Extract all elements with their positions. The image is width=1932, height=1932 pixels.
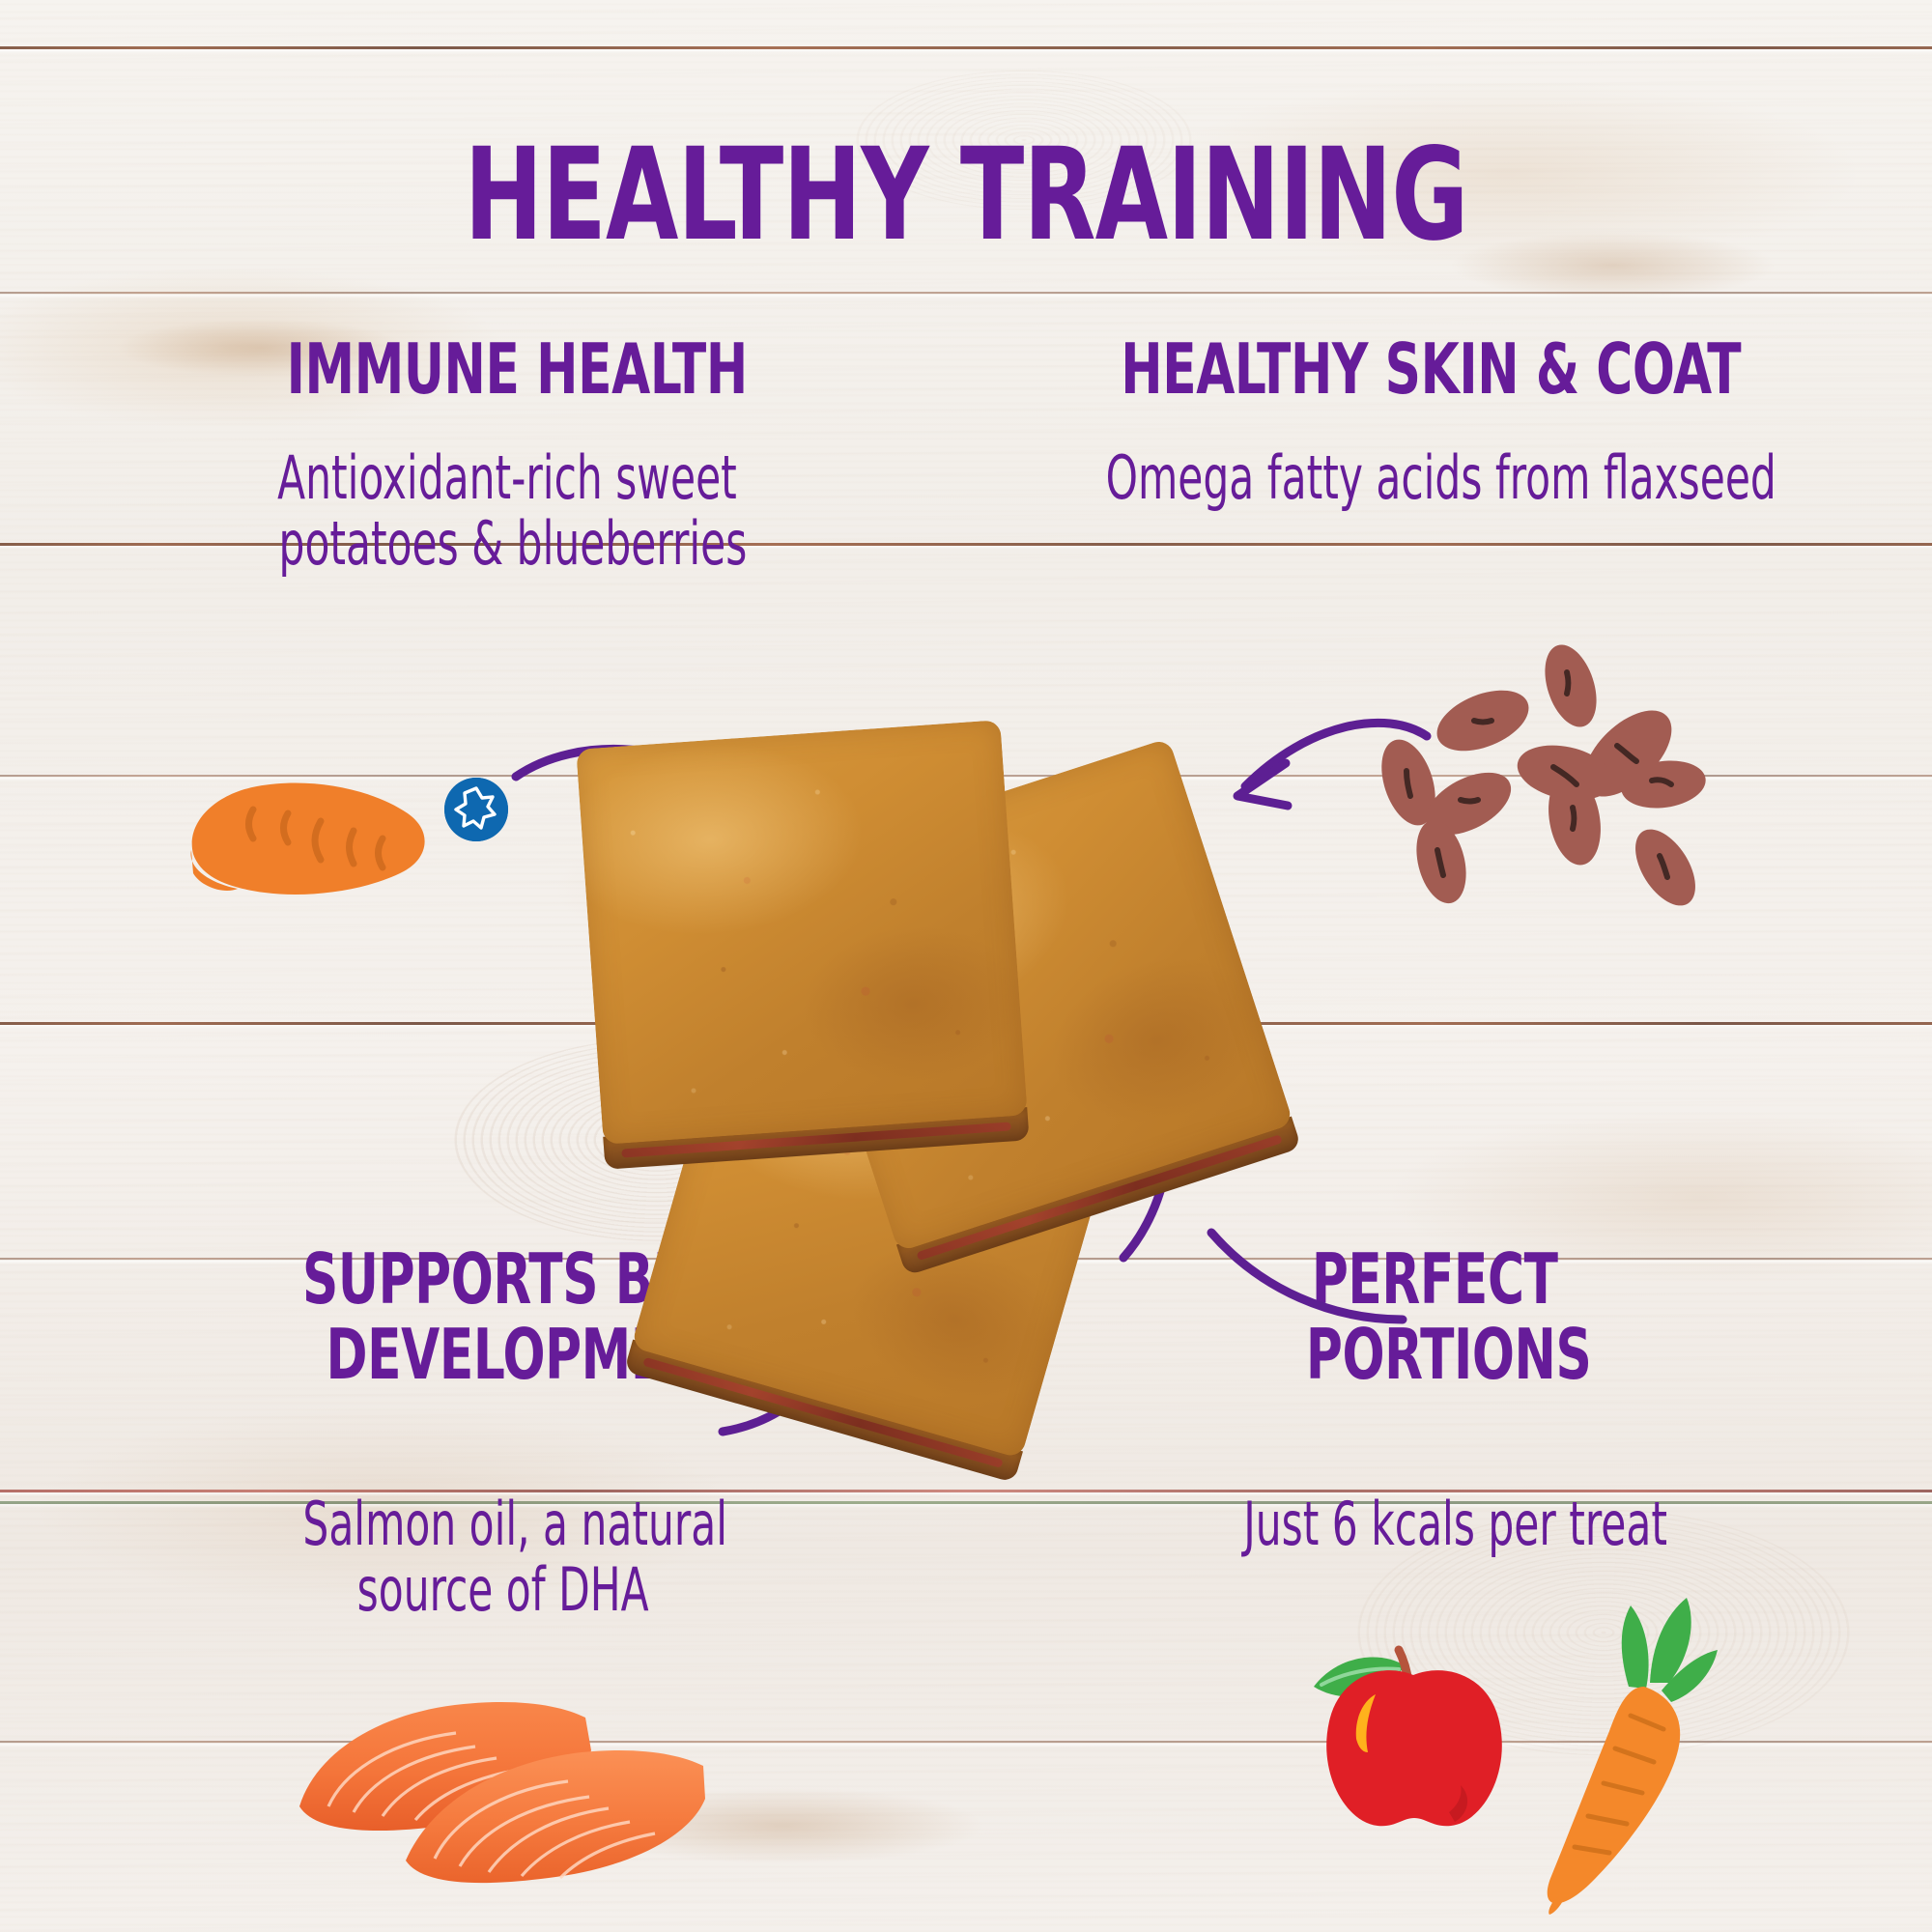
feature-body-brain-development-line2: source of DHA [357,1558,649,1621]
page-title: HEALTHY TRAINING [465,135,1468,256]
sweet-potato-icon [164,753,435,908]
feature-body-brain-development-line1: Salmon oil, a natural [302,1492,727,1555]
apple-icon [1304,1633,1526,1835]
feature-body-perfect-portions: Just 6 kcals per treat [1243,1492,1667,1555]
plank-seam [0,44,1932,51]
feature-body-immune-health-line2: potatoes & blueberries [279,512,748,575]
treat-biscuit-top [576,720,1028,1145]
arrow-healthy-skin-coat [1212,715,1435,860]
treat-crumb-texture [576,720,1028,1145]
feature-body-healthy-skin-coat: Omega fatty acids from flaxseed [1106,446,1776,509]
feature-heading-healthy-skin-coat: HEALTHY SKIN & COAT [1121,336,1741,402]
salmon-fillet-icon [290,1662,715,1903]
wood-scuff [1449,232,1777,299]
infographic-canvas: HEALTHY TRAINING IMMUNE HEALTH Antioxida… [0,0,1932,1932]
feature-heading-immune-health: IMMUNE HEALTH [287,336,748,402]
carrot-icon [1507,1594,1719,1913]
feature-body-immune-health-line1: Antioxidant-rich sweet [277,446,737,509]
blueberry-icon [444,778,508,841]
